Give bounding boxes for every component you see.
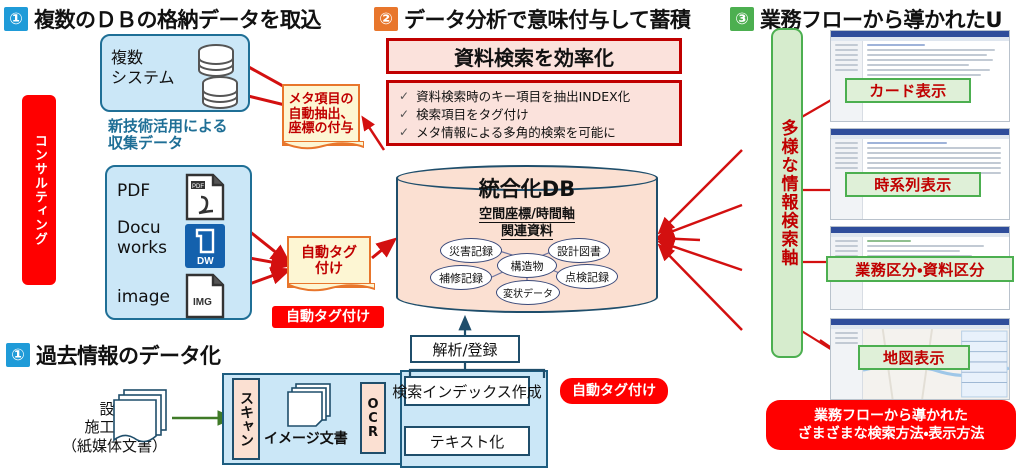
integrated-database-cylinder: 統合化DB 空間座標/時間軸 関連資料 災害記録 設計図書 構造物 補修記録 点… <box>396 165 658 313</box>
consulting-label: コンサルティング <box>22 95 56 285</box>
section-4-title: 過去情報のデータ化 <box>36 340 221 370</box>
checklist-item-text: 資料検索時のキー項目を抽出INDEX化 <box>416 88 630 106</box>
note-meta-extraction: メタ項目の 自動抽出、 座標の付与 <box>282 84 360 146</box>
redpill-auto-tagging-bottom: 自動タグ付け <box>560 378 668 404</box>
multi-system-caption: 新技術活用による 収集データ <box>108 118 228 152</box>
analyze-to-index-link <box>398 360 550 380</box>
view-label-map: 地図表示 <box>858 345 970 370</box>
check-icon: ✓ <box>399 106 409 123</box>
section-1-header: ① 複数のＤＢの格納データを取込 <box>4 4 321 34</box>
checklist-item: ✓ 検索項目をタグ付け <box>399 106 671 124</box>
paper-stack-icon <box>110 388 174 448</box>
section-2-header: ② データ分析で意味付与して蓄積 <box>374 4 690 34</box>
file-type-label-pdf: PDF <box>117 181 150 201</box>
section-4-badge: ① <box>6 343 30 367</box>
ocr-step: OCR <box>360 382 386 454</box>
file-type-label-image: image <box>117 287 170 307</box>
view-label-category: 業務区分・資料区分 <box>826 256 1014 282</box>
section-3-badge: ③ <box>730 7 754 31</box>
checklist-item: ✓ メタ情報による多角的検索を可能に <box>399 124 671 142</box>
pdf-file-icon: PDF <box>183 173 227 223</box>
multi-system-label: 複数 システム <box>111 48 175 88</box>
section-4-header: ① 過去情報のデータ化 <box>6 340 221 370</box>
db-node-structure: 構造物 <box>497 253 557 278</box>
note-auto-tagging-text: 自動タグ 付け <box>301 246 357 277</box>
image-document-label: イメージ文書 <box>264 428 348 448</box>
search-index-creation-box: 検索インデックス作成 <box>404 376 530 406</box>
image-icon-text: IMG <box>193 297 212 308</box>
check-icon: ✓ <box>399 124 409 141</box>
db-node-deformation-data: 変状データ <box>496 280 560 305</box>
db-node-repair-record: 補修記録 <box>430 265 492 290</box>
checklist-item-text: メタ情報による多角的検索を可能に <box>416 124 616 142</box>
check-icon: ✓ <box>399 88 409 105</box>
note-wave-edge <box>282 141 364 153</box>
note-wave-edge-2 <box>287 283 375 295</box>
efficiency-checklist: ✓ 資料検索時のキー項目を抽出INDEX化 ✓ 検索項目をタグ付け ✓ メタ情報… <box>386 80 682 146</box>
db-node-disaster-record: 災害記録 <box>440 238 502 263</box>
section-1-title: 複数のＤＢの格納データを取込 <box>34 4 321 34</box>
multi-system-box: 複数 システム <box>100 34 250 112</box>
file-type-label-docuworks: Docu works <box>117 219 167 258</box>
ui-thumbnail-card-view[interactable] <box>830 30 1010 122</box>
view-label-card: カード表示 <box>845 78 971 103</box>
db-node-design-docs: 設計図書 <box>548 238 610 263</box>
database-cylinder-icon-1 <box>190 42 242 112</box>
efficiency-panel-title: 資料検索を効率化 <box>386 38 682 74</box>
diagram-canvas: ① 複数のＤＢの格納データを取込 ② データ分析で意味付与して蓄積 ③ 業務フロ… <box>0 0 1024 475</box>
section-2-badge: ② <box>374 7 398 31</box>
section-2-title: データ分析で意味付与して蓄積 <box>404 4 690 34</box>
scan-step: スキャン <box>232 378 260 460</box>
redpill-auto-tagging-left: 自動タグ付け <box>272 306 384 328</box>
search-axis-label: 多様な情報検索軸 <box>771 28 803 358</box>
db-node-inspection-record: 点検記録 <box>556 264 618 289</box>
textify-box: テキスト化 <box>404 426 530 456</box>
workflow-footer-note: 業務フローから導かれた ざまざまな検索方法・表示方法 <box>766 400 1016 450</box>
file-types-box: PDF Docu works image PDF DW IMG <box>105 165 252 320</box>
analyze-register-box: 解析/登録 <box>410 335 520 363</box>
section-1-badge: ① <box>4 7 28 31</box>
docuworks-file-icon: DW <box>183 222 227 272</box>
checklist-item-text: 検索項目をタグ付け <box>416 106 529 124</box>
docuworks-icon-text: DW <box>197 256 214 267</box>
svg-text:PDF: PDF <box>192 184 204 190</box>
note-meta-extraction-text: メタ項目の 自動抽出、 座標の付与 <box>288 93 353 137</box>
checklist-item: ✓ 資料検索時のキー項目を抽出INDEX化 <box>399 88 671 106</box>
view-label-timeline: 時系列表示 <box>845 172 981 197</box>
image-file-icon: IMG <box>183 273 227 319</box>
note-auto-tagging: 自動タグ 付け <box>287 236 371 288</box>
image-document-stack-icon <box>284 382 342 430</box>
